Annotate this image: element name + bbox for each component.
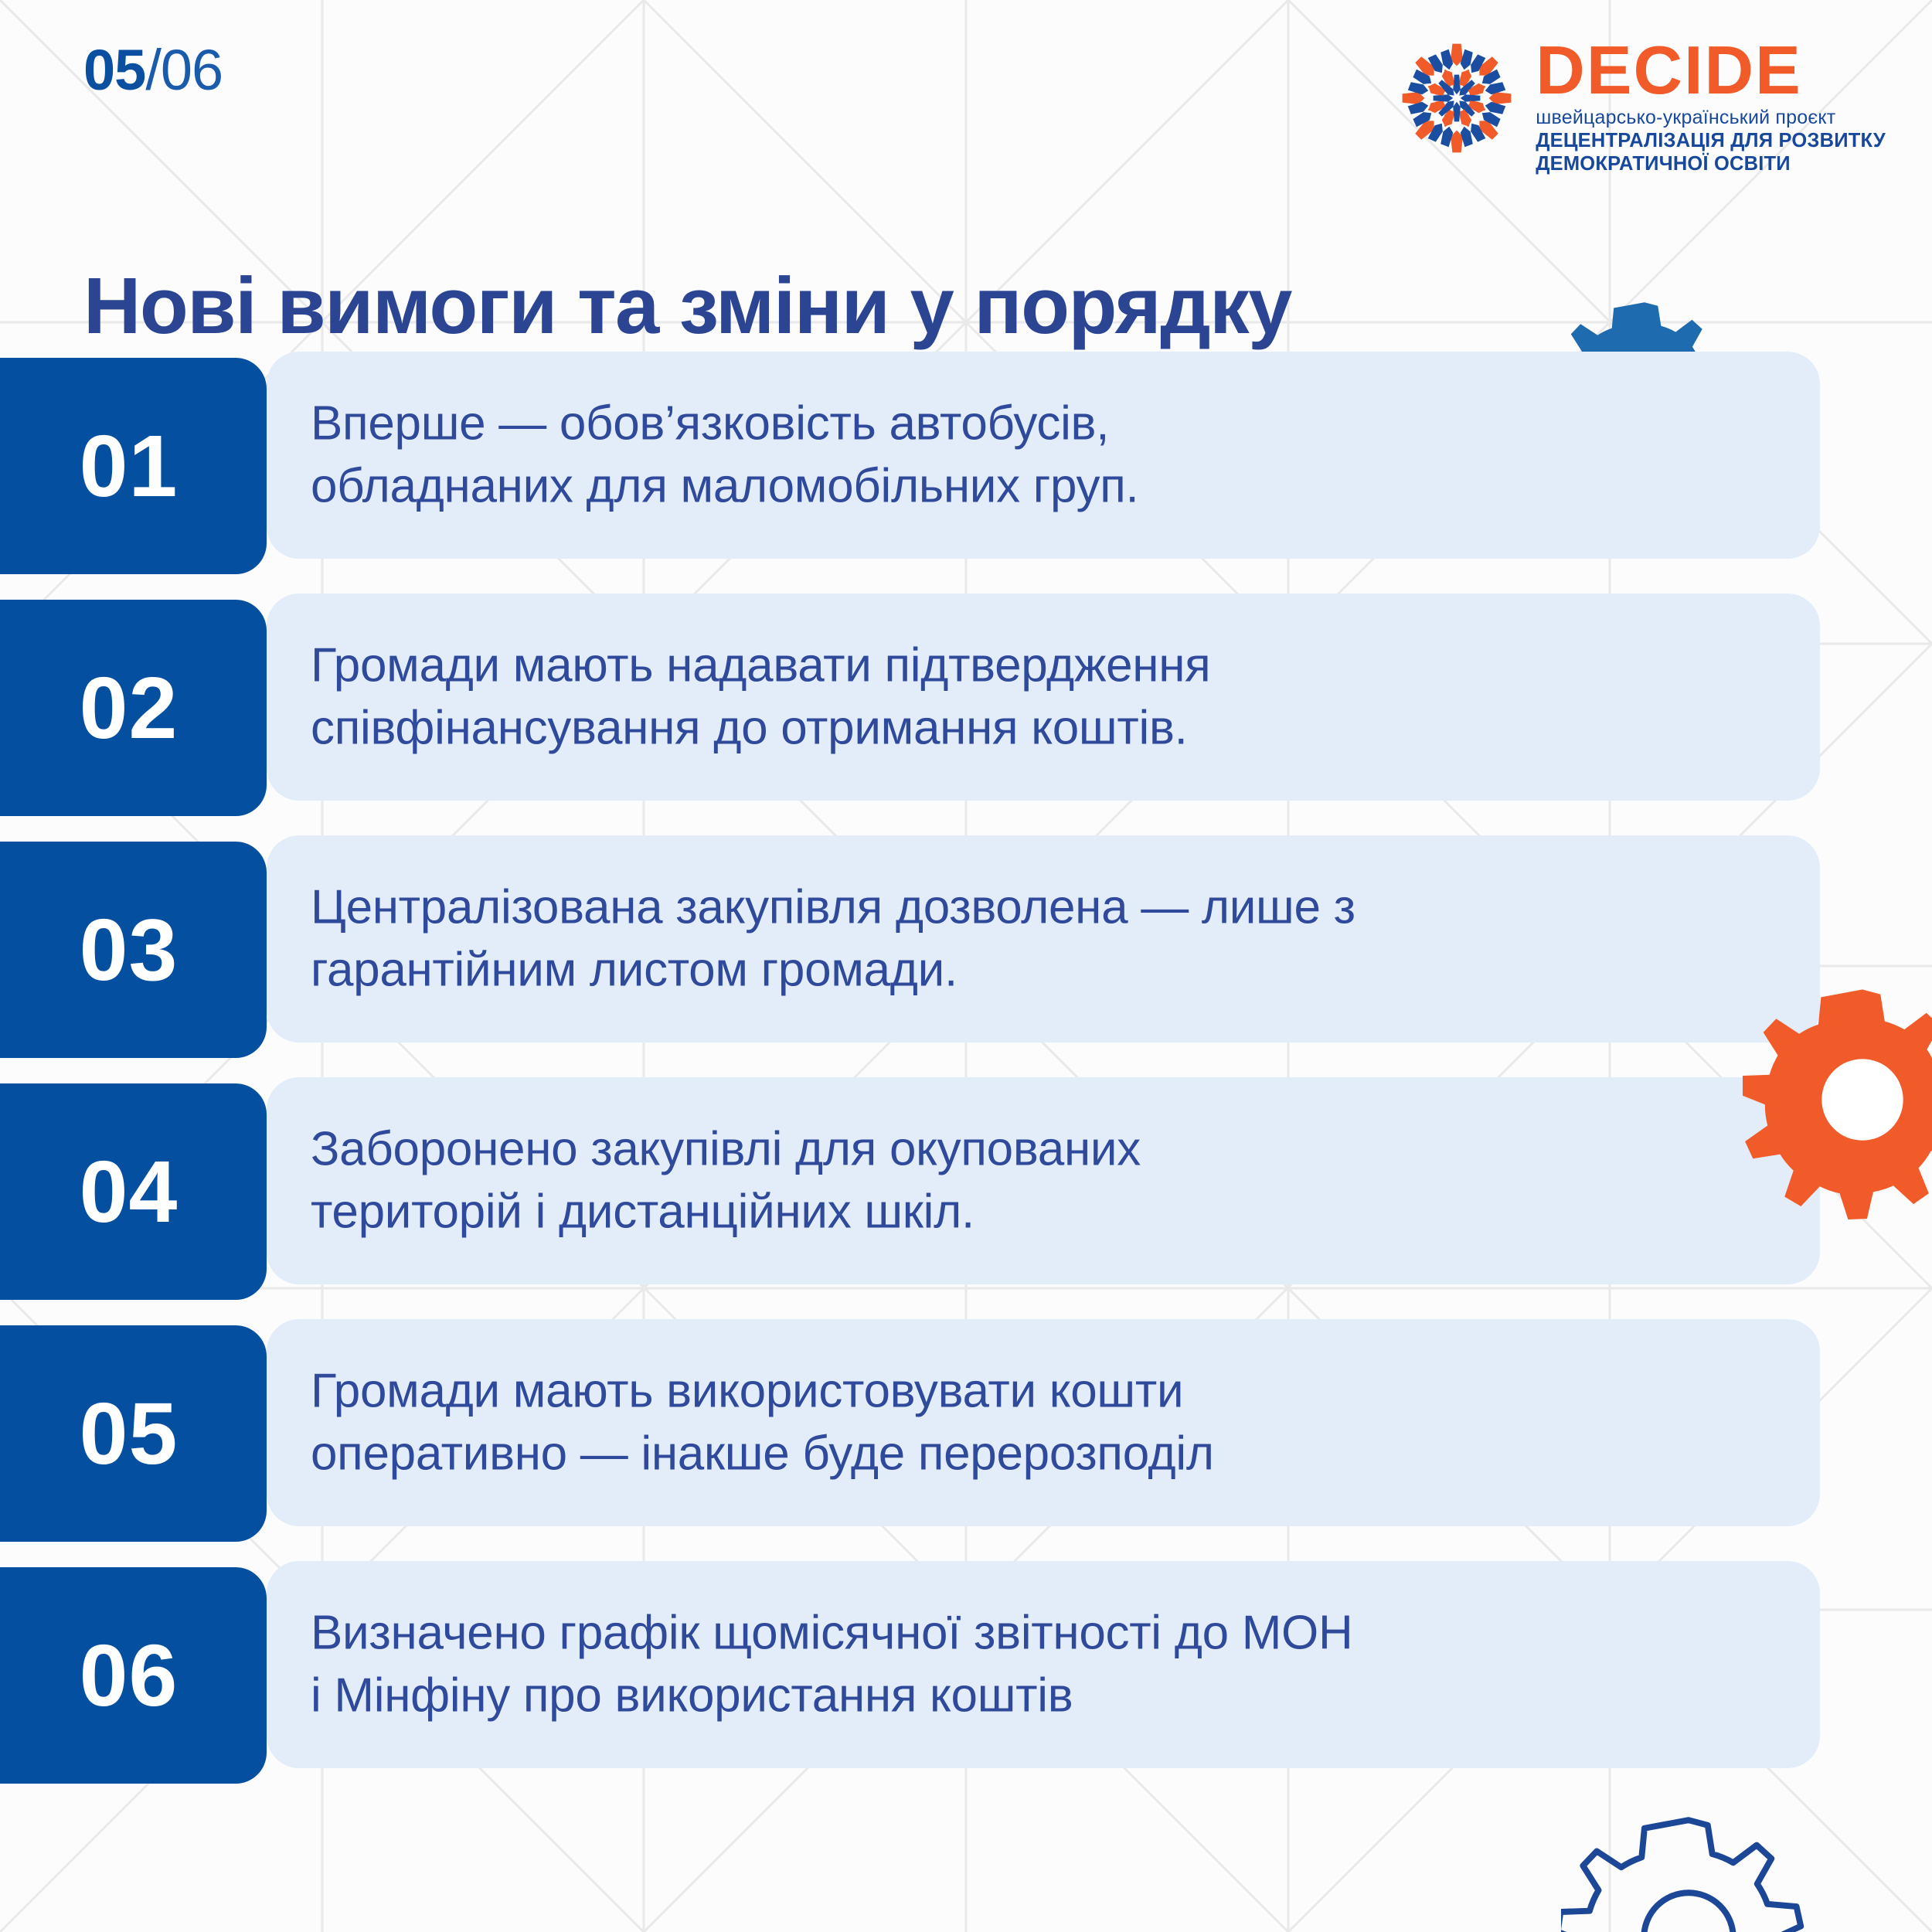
infographic-slide: 05/06 DE	[0, 0, 1932, 1932]
list-item-number: 06	[66, 1632, 179, 1719]
list-item-number: 02	[66, 665, 179, 752]
list-item: 03 Централізована закупівля дозволена — …	[0, 835, 1932, 1043]
page-counter-current: 05	[83, 38, 145, 102]
list-item-text-line2: оперативно — інакше буде перерозподіл	[311, 1423, 1764, 1485]
list-item: 05 Громади мають використовувати кошти о…	[0, 1319, 1932, 1526]
list-item-number: 04	[66, 1148, 179, 1236]
list-item-text-line2: гарантійним листом громади.	[311, 939, 1764, 1002]
list-item-text-line2: і Мінфіну про використання коштів	[311, 1665, 1764, 1727]
list-item-text: Громади мають надавати підтвердження спі…	[311, 634, 1764, 759]
list-item-text-line1: Централізована закупівля дозволена — лиш…	[311, 876, 1764, 939]
list-item-number-badge: 02	[0, 600, 267, 816]
list-item: 01 Вперше — обов’язковість автобусів, об…	[0, 352, 1932, 559]
brand-logo: DECIDE швейцарсько-український проєкт ДЕ…	[1395, 35, 1886, 175]
page-title: Нові вимоги та зміни у порядку	[83, 260, 1291, 352]
logo-tagline-2: ДЕЦЕНТРАЛІЗАЦІЯ ДЛЯ РОЗВИТКУ	[1536, 129, 1886, 152]
list-item-number: 05	[66, 1390, 179, 1478]
list-item-text: Централізована закупівля дозволена — лиш…	[311, 876, 1764, 1001]
list-item-number: 03	[66, 906, 179, 994]
logo-tagline-3: ДЕМОКРАТИЧНОЇ ОСВІТИ	[1536, 152, 1886, 175]
list-item-text-line1: Визначено графік щомісячної звітності до…	[311, 1602, 1764, 1665]
page-counter-total: 06	[161, 38, 223, 102]
list-item-text-line1: Громади мають надавати підтвердження	[311, 634, 1764, 697]
list-item: 04 Заборонено закупівлі для окупованих т…	[0, 1077, 1932, 1284]
list-item-text-line1: Вперше — обов’язковість автобусів,	[311, 393, 1764, 455]
list-item-text-line2: співфінансування до отримання коштів.	[311, 697, 1764, 760]
page-counter-separator: /	[145, 38, 161, 102]
list-item-number-badge: 04	[0, 1083, 267, 1300]
list-item-text-line1: Громади мають використовувати кошти	[311, 1360, 1764, 1423]
requirements-list: 01 Вперше — обов’язковість автобусів, об…	[0, 352, 1932, 1803]
list-item: 02 Громади мають надавати підтвердження …	[0, 594, 1932, 801]
list-item-text: Громади мають використовувати кошти опер…	[311, 1360, 1764, 1485]
decide-snowflake-icon	[1395, 36, 1519, 160]
logo-tagline-1: швейцарсько-український проєкт	[1536, 107, 1886, 129]
list-item-text: Заборонено закупівлі для окупованих тери…	[311, 1118, 1764, 1243]
list-item-number-badge: 05	[0, 1325, 267, 1542]
list-item-text: Визначено графік щомісячної звітності до…	[311, 1602, 1764, 1726]
gear-navy-outline-icon	[1561, 1810, 1816, 1932]
list-item-number: 01	[66, 423, 179, 510]
list-item: 06 Визначено графік щомісячної звітності…	[0, 1561, 1932, 1768]
logo-wordmark: DECIDE	[1536, 39, 1886, 102]
list-item-number-badge: 01	[0, 358, 267, 574]
page-counter: 05/06	[83, 37, 223, 103]
list-item-number-badge: 06	[0, 1567, 267, 1784]
list-item-text-line1: Заборонено закупівлі для окупованих	[311, 1118, 1764, 1181]
list-item-text: Вперше — обов’язковість автобусів, облад…	[311, 393, 1764, 517]
list-item-number-badge: 03	[0, 842, 267, 1058]
list-item-text-line2: обладнаних для маломобільних груп.	[311, 455, 1764, 518]
list-item-text-line2: територій і дистанційних шкіл.	[311, 1181, 1764, 1243]
